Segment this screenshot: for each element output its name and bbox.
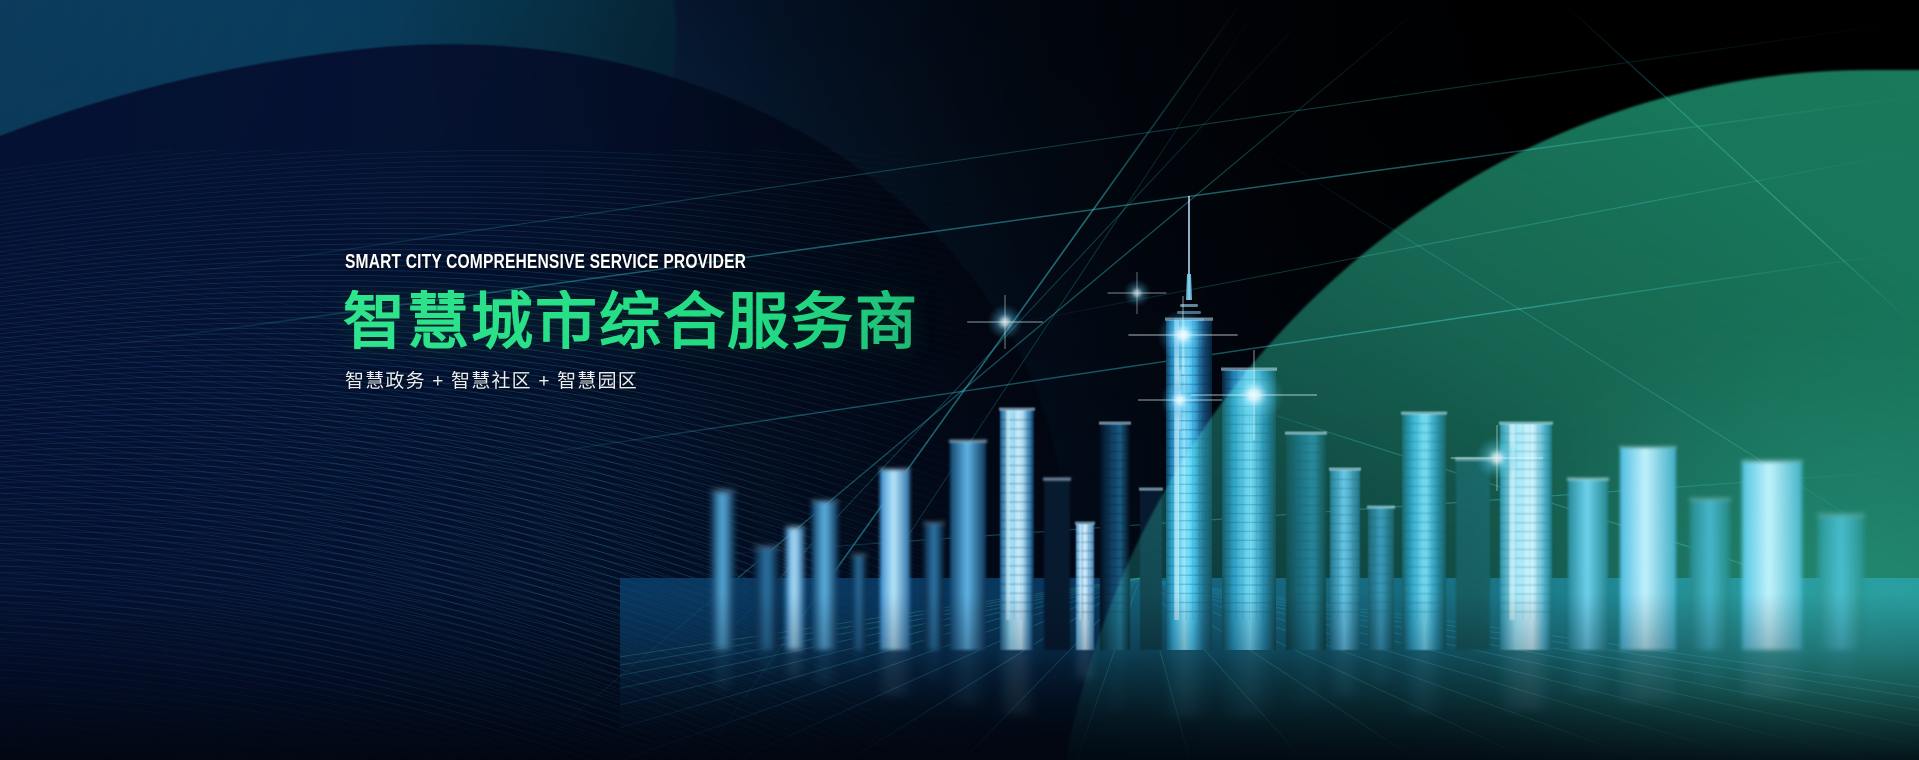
hero-eyebrow-english: SMART CITY COMPREHENSIVE SERVICE PROVIDE… xyxy=(345,252,936,272)
smart-city-hero-banner: SMART CITY COMPREHENSIVE SERVICE PROVIDE… xyxy=(0,0,1919,760)
hero-subline: 智慧政务 + 智慧社区 + 智慧园区 xyxy=(345,372,1103,391)
hero-copy-block: SMART CITY COMPREHENSIVE SERVICE PROVIDE… xyxy=(343,252,1103,391)
hero-headline: 智慧城市综合服务商 xyxy=(343,290,1103,356)
